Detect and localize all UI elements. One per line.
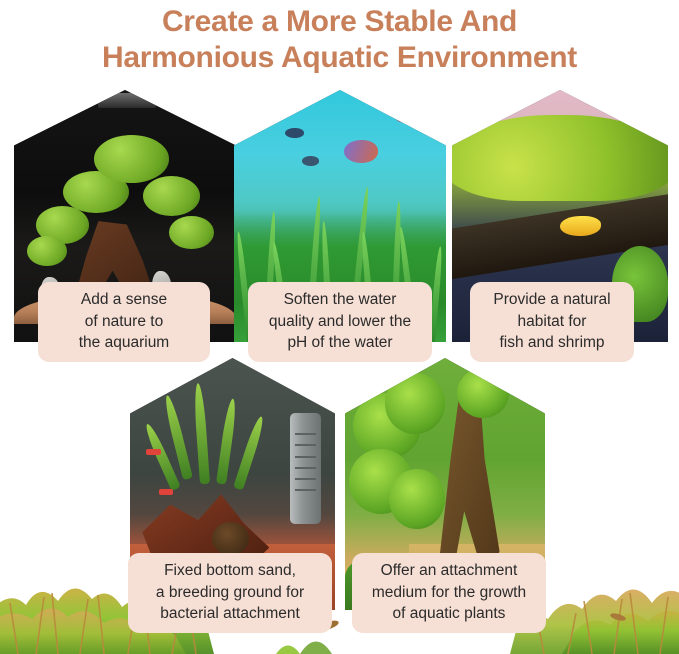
caption-line: Offer an attachment xyxy=(362,560,536,582)
caption-line: Fixed bottom sand, xyxy=(138,560,322,582)
caption-line: of nature to xyxy=(48,311,200,333)
card-caption-water-quality: Soften the water quality and lower the p… xyxy=(248,282,432,362)
caption-line: fish and shrimp xyxy=(480,332,624,354)
caption-line: Add a sense xyxy=(48,289,200,311)
feature-card-grid: Add a sense of nature to the aquarium So… xyxy=(0,0,679,654)
caption-line: bacterial attachment xyxy=(138,603,322,625)
card-caption-attachment: Offer an attachment medium for the growt… xyxy=(352,553,546,633)
caption-line: Soften the water xyxy=(258,289,422,311)
card-caption-habitat: Provide a natural habitat for fish and s… xyxy=(470,282,634,362)
caption-line: quality and lower the xyxy=(258,311,422,333)
caption-line: habitat for xyxy=(480,311,624,333)
card-caption-bonsai: Add a sense of nature to the aquarium xyxy=(38,282,210,362)
card-caption-bacteria: Fixed bottom sand, a breeding ground for… xyxy=(128,553,332,633)
caption-line: of aquatic plants xyxy=(362,603,536,625)
caption-line: medium for the growth xyxy=(362,582,536,604)
caption-line: the aquarium xyxy=(48,332,200,354)
caption-line: a breeding ground for xyxy=(138,582,322,604)
filter-graphic xyxy=(290,413,321,524)
caption-line: pH of the water xyxy=(258,332,422,354)
caption-line: Provide a natural xyxy=(480,289,624,311)
